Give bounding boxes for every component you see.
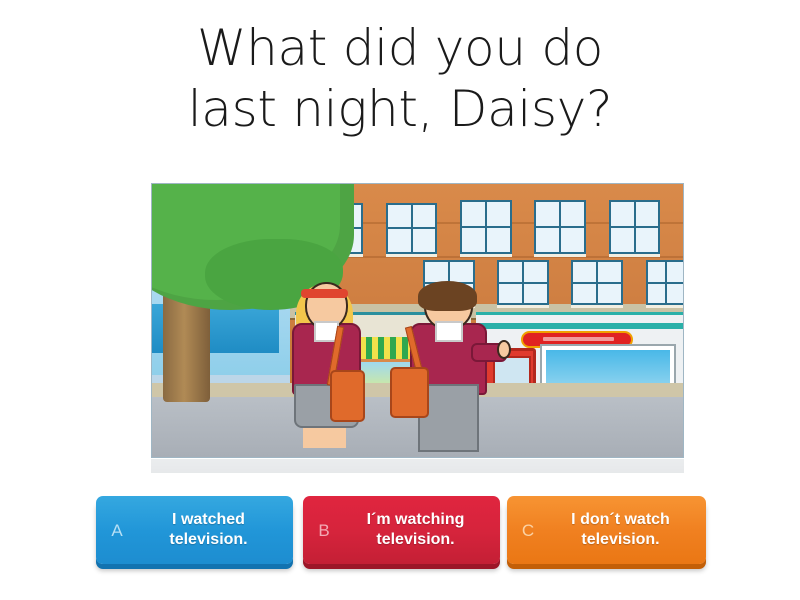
character-boy — [396, 282, 497, 451]
answer-option-b[interactable]: B I´m watching television. — [303, 496, 500, 564]
answer-letter-b: B — [303, 522, 345, 539]
answer-text-b: I´m watching television. — [345, 510, 500, 550]
character-girl — [279, 282, 369, 451]
answer-options: A I watched television. B I´m watching t… — [0, 496, 800, 574]
building-window — [460, 200, 512, 253]
answer-option-a[interactable]: A I watched television. — [96, 496, 293, 564]
building-window — [497, 260, 549, 305]
building-window — [646, 260, 684, 305]
answer-option-c[interactable]: C I don´t watch television. — [507, 496, 706, 564]
answer-letter-c: C — [507, 522, 549, 539]
building-window — [534, 200, 586, 253]
building-window — [571, 260, 623, 305]
illustration-scene: -STOP — [152, 184, 683, 457]
building-window — [609, 200, 661, 253]
shop-trim — [476, 323, 683, 330]
building-window — [386, 203, 438, 253]
answer-text-c: I don´t watch television. — [549, 510, 706, 550]
answer-letter-a: A — [96, 522, 138, 539]
image-reflection — [151, 459, 684, 473]
page-title: What did you do last night, Daisy? — [0, 18, 800, 140]
question-image: -STOP — [151, 183, 684, 458]
answer-text-a: I watched television. — [138, 510, 293, 550]
